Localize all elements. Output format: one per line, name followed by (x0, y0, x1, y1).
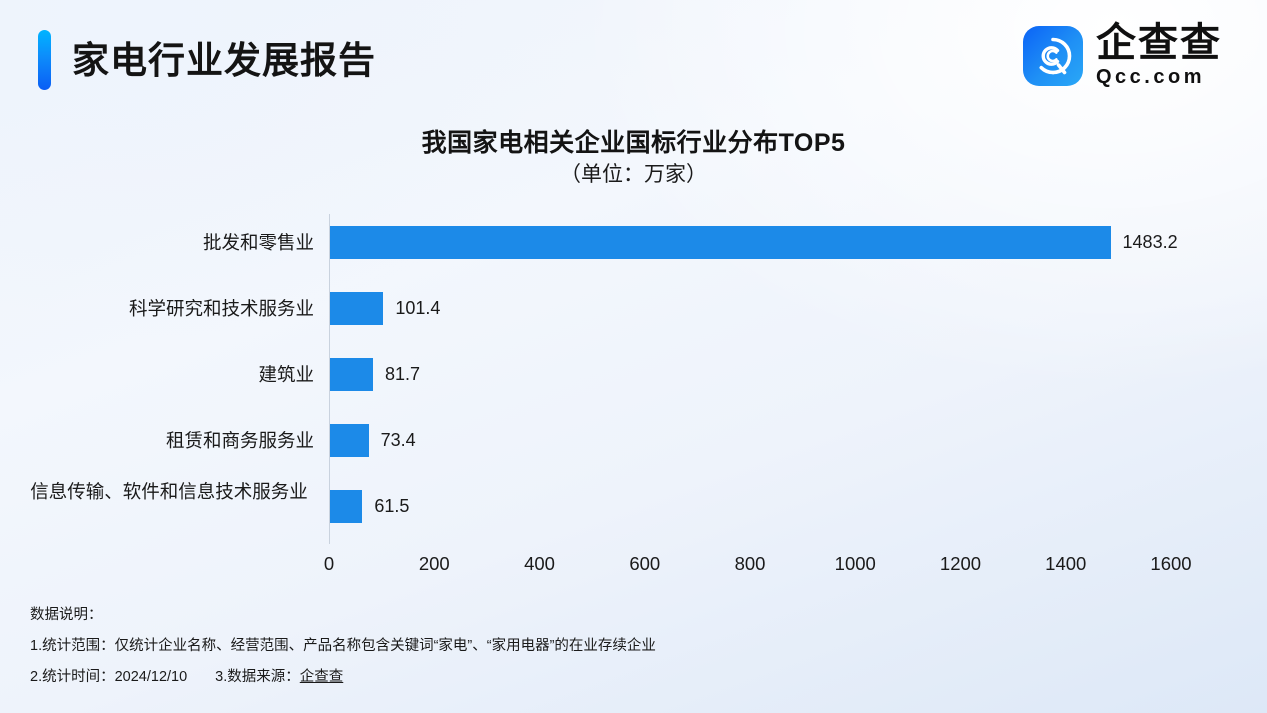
bar[interactable] (330, 292, 383, 325)
footnote-source-label: 3.数据来源： (215, 669, 300, 685)
bar-value-label: 81.7 (385, 358, 420, 391)
x-axis-tick-label: 200 (419, 553, 450, 575)
bar-value-label: 61.5 (374, 490, 409, 523)
bar-value-label: 1483.2 (1123, 226, 1178, 259)
x-axis-tick-label: 600 (629, 553, 660, 575)
bar[interactable] (330, 226, 1111, 259)
x-axis-tick-label: 400 (524, 553, 555, 575)
bar[interactable] (330, 424, 369, 457)
bar-category-label: 建筑业 (24, 361, 314, 388)
bar-row: 批发和零售业1483.2 (0, 226, 1267, 292)
x-axis-tick-label: 0 (324, 553, 334, 575)
footnote-heading: 数据说明： (30, 600, 1180, 631)
footnote-time: 2.统计时间：2024/12/10 (30, 669, 187, 685)
bar-row: 信息传输、软件和信息技术服务业61.5 (0, 490, 1267, 556)
bar-row: 建筑业81.7 (0, 358, 1267, 424)
bar-category-label: 信息传输、软件和信息技术服务业 (24, 478, 314, 505)
bar-row: 科学研究和技术服务业101.4 (0, 292, 1267, 358)
bar-value-label: 73.4 (381, 424, 416, 457)
x-axis-tick-label: 1600 (1150, 553, 1191, 575)
bar-value-label: 101.4 (395, 292, 440, 325)
footnote-scope: 1.统计范围：仅统计企业名称、经营范围、产品名称包含关键词“家电”、“家用电器”… (30, 631, 1180, 662)
x-axis-tick-label: 1000 (835, 553, 876, 575)
bar-category-label: 批发和零售业 (24, 229, 314, 256)
chart-footnotes: 数据说明： 1.统计范围：仅统计企业名称、经营范围、产品名称包含关键词“家电”、… (30, 600, 1180, 693)
x-axis-tick-label: 800 (735, 553, 766, 575)
bar-category-label: 租赁和商务服务业 (24, 427, 314, 454)
x-axis-tick-label: 1400 (1045, 553, 1086, 575)
x-axis-ticks: 02004006008001000120014001600 (0, 553, 1267, 581)
footnote-time-source: 2.统计时间：2024/12/103.数据来源：企查查 (30, 662, 1180, 693)
bar[interactable] (330, 490, 362, 523)
bar-category-label: 科学研究和技术服务业 (24, 295, 314, 322)
bar[interactable] (330, 358, 373, 391)
footnote-source-value[interactable]: 企查查 (300, 669, 344, 685)
x-axis-tick-label: 1200 (940, 553, 981, 575)
